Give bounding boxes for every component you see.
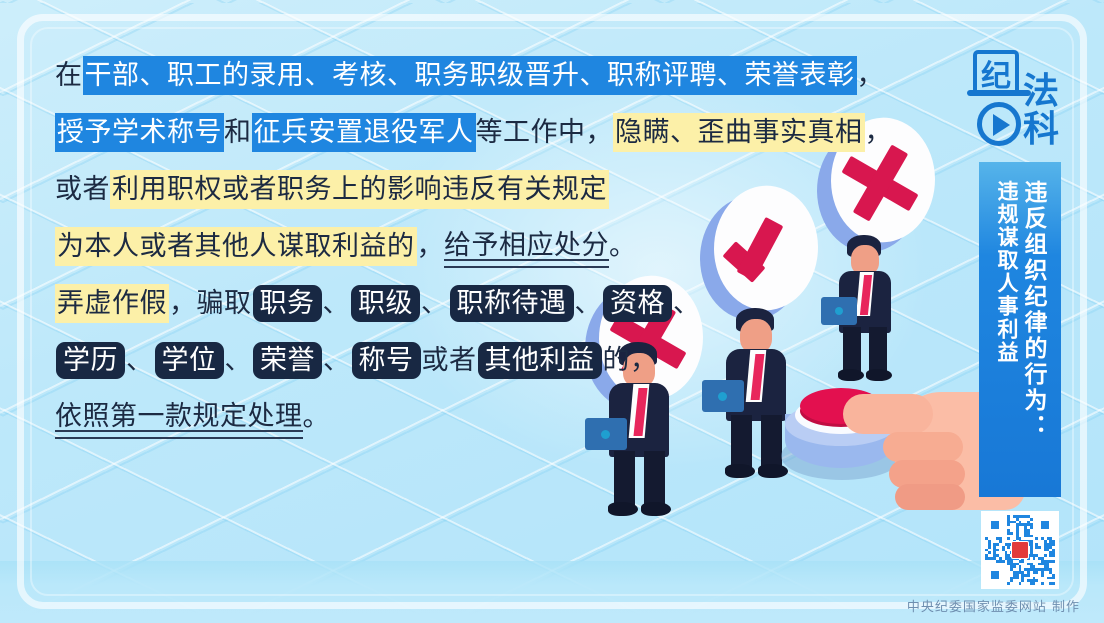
text-line-2: 授予学术称号 和 征兵安置退役军人 等工作中， 隐瞒、歪曲事实真相 ， <box>55 104 845 161</box>
right-rail: 纪 法 科 违反组织纪律的行为： 违规谋取人事利益 <box>985 50 1065 589</box>
text-segment: 、 <box>126 343 154 377</box>
tag-chip: 职称待遇 <box>450 285 574 322</box>
legs <box>843 327 861 375</box>
legs <box>869 327 887 375</box>
text-segment: 、 <box>225 343 253 377</box>
text-segment-underlined: 依照第一款规定处理 <box>55 402 303 433</box>
logo-bai-stroke <box>967 90 1031 96</box>
tag-chip: 荣誉 <box>253 342 322 379</box>
text-segment: 的， <box>603 343 658 377</box>
text-segment: 。 <box>303 400 331 434</box>
text-line-7: 依照第一款规定处理 。 <box>55 389 845 446</box>
cross-icon <box>841 142 919 220</box>
text-segment: 在 <box>55 58 83 92</box>
tag-chip: 职级 <box>351 285 420 322</box>
text-segment: 、 <box>323 343 351 377</box>
shoe <box>725 464 755 478</box>
text-segment: 。 <box>609 229 637 263</box>
text-segment-underlined: 给予相应处分 <box>444 231 609 262</box>
banner-column-right: 违反组织纪律的行为： <box>1021 180 1044 497</box>
text-segment-highlight-yellow: 弄虚作假 <box>55 284 169 323</box>
shoe <box>608 502 638 516</box>
text-segment-highlight-blue: 授予学术称号 <box>55 113 224 152</box>
text-line-6: 学历 、 学位 、 荣誉 、 称号 或者 其他利益 的， <box>55 332 845 389</box>
text-line-5: 弄虚作假 ，骗取 职务 、 职级 、 职称待遇 、 资格 、 <box>55 275 845 332</box>
tag-chip: 称号 <box>352 342 421 379</box>
text-segment-highlight-yellow: 利用职权或者职务上的影响违反有关规定 <box>110 170 609 209</box>
text-segment-highlight-yellow: 为本人或者其他人谋取利益的 <box>55 227 417 266</box>
text-segment: 、 <box>323 286 351 320</box>
finger <box>883 432 963 462</box>
index-finger <box>843 394 933 434</box>
qr-code[interactable] <box>981 511 1059 589</box>
text-segment: 或者 <box>55 172 110 206</box>
qr-seal-icon <box>1011 541 1029 559</box>
text-segment: ， <box>417 229 445 263</box>
tag-chip: 其他利益 <box>478 342 602 379</box>
text-segment: ，骗取 <box>169 286 252 320</box>
finger <box>895 484 965 510</box>
credit-text: 中央纪委国家监委网站 制作 <box>907 596 1080 615</box>
text-segment: 等工作中， <box>476 115 614 149</box>
shoe <box>641 502 671 516</box>
logo-char-ke: 科 <box>1023 112 1059 148</box>
vertical-title-banner: 违反组织纪律的行为： 违规谋取人事利益 <box>979 162 1061 497</box>
tag-chip: 学历 <box>56 342 125 379</box>
jifa-baike-logo[interactable]: 纪 法 科 <box>971 50 1067 154</box>
text-line-1: 在 干部、职工的录用、考核、职务职级晋升、职称评聘、荣誉表彰 ， <box>55 47 845 104</box>
text-segment: 、 <box>575 286 603 320</box>
text-segment: 和 <box>224 115 252 149</box>
text-segment-highlight-blue: 征兵安置退役军人 <box>252 113 476 152</box>
text-segment-highlight-yellow: 隐瞒、歪曲事实真相 <box>613 113 865 152</box>
text-line-3: 或者 利用职权或者职务上的影响违反有关规定 <box>55 161 845 218</box>
text-segment: 、 <box>673 286 701 320</box>
text-segment: 或者 <box>422 343 477 377</box>
text-segment: ， <box>865 115 893 149</box>
tag-chip: 职务 <box>253 285 322 322</box>
body-text-block: 在 干部、职工的录用、考核、职务职级晋升、职称评聘、荣誉表彰 ， 授予学术称号 … <box>55 47 845 446</box>
text-segment: 、 <box>421 286 449 320</box>
logo-char-fa: 法 <box>1023 74 1059 110</box>
text-line-4: 为本人或者其他人谋取利益的 ， 给予相应处分 。 <box>55 218 845 275</box>
legs <box>644 451 665 509</box>
text-segment: ， <box>857 58 885 92</box>
legs <box>614 451 635 509</box>
banner-column-left: 违规谋取人事利益 <box>996 180 1017 497</box>
tag-chip: 资格 <box>603 285 672 322</box>
play-icon <box>993 114 1010 136</box>
text-segment-highlight-blue: 干部、职工的录用、考核、职务职级晋升、职称评聘、荣誉表彰 <box>83 56 857 95</box>
poster-canvas: 在 干部、职工的录用、考核、职务职级晋升、职称评聘、荣誉表彰 ， 授予学术称号 … <box>0 0 1104 623</box>
tag-chip: 学位 <box>155 342 224 379</box>
